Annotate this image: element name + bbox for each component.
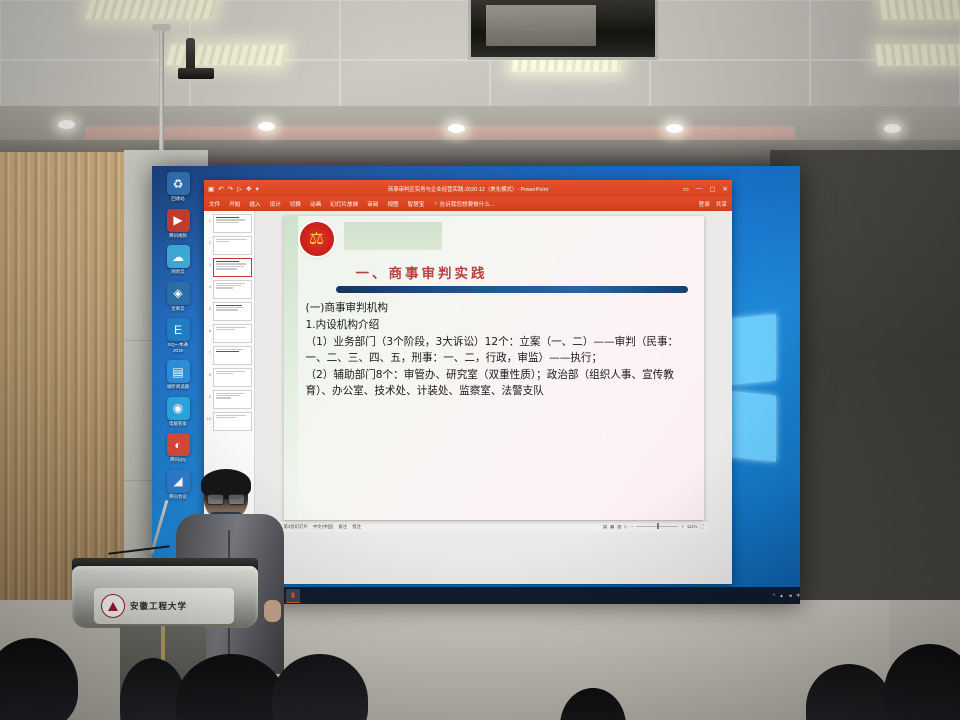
tab-insert[interactable]: 插入 bbox=[249, 200, 260, 208]
desktop-icon-label: 网易云 bbox=[156, 269, 200, 275]
slide-body-line: （1）业务部门（3个阶段，3大诉讼）12个：立案（一、二）——审判（民事：一、二… bbox=[306, 334, 694, 366]
system-tray[interactable]: ^ ▲ ◄ 中 bbox=[773, 593, 800, 599]
slide-thumbnail[interactable]: 5 bbox=[206, 302, 252, 321]
zoom-out-icon[interactable]: − bbox=[631, 524, 634, 529]
slide-number: 6 bbox=[206, 324, 211, 333]
tab-design[interactable]: 设计 bbox=[270, 200, 281, 208]
ceiling-light bbox=[165, 44, 288, 66]
desktop-icon[interactable]: E EQ一本通 2019 bbox=[156, 318, 200, 353]
slide-number: 8 bbox=[206, 368, 211, 377]
zoom-level: 111% bbox=[687, 524, 698, 529]
desktop-icon[interactable]: ☁ 网易云 bbox=[156, 245, 200, 275]
slide-body: (一)商事审判机构 1.内设机构介绍 （1）业务部门（3个阶段，3大诉讼）12个… bbox=[306, 300, 694, 400]
desktop-icon-label: 腾讯视频 bbox=[156, 233, 200, 239]
slide-thumbnail[interactable]: 6 bbox=[206, 324, 252, 343]
volume-icon[interactable]: ◄ bbox=[788, 593, 793, 598]
desktop-icon[interactable]: ▶ 腾讯视频 bbox=[156, 209, 200, 239]
ceiling-light bbox=[878, 0, 960, 20]
qq-icon: ◐ bbox=[167, 433, 190, 456]
slide-left-accent bbox=[284, 216, 298, 520]
redo-icon[interactable]: ↷ bbox=[228, 185, 233, 193]
minimize-icon[interactable]: — bbox=[696, 185, 703, 193]
projector-body bbox=[178, 68, 214, 79]
eq-app-icon: E bbox=[167, 318, 190, 341]
language-indicator[interactable]: 中文(中国) bbox=[313, 524, 334, 530]
slide-number: 3 bbox=[206, 258, 211, 267]
touch-icon[interactable]: ✥ bbox=[246, 185, 251, 193]
desktop-icon[interactable]: ◐ 腾讯QQ bbox=[156, 433, 200, 463]
slide-thumbnail[interactable]: 1 bbox=[206, 214, 252, 233]
pdf-reader-icon: ▤ bbox=[167, 360, 190, 383]
speaker-hand bbox=[264, 600, 281, 622]
slide-thumbnail-selected[interactable]: 3 bbox=[206, 258, 252, 277]
tab-animations[interactable]: 动画 bbox=[310, 200, 321, 208]
ceiling bbox=[0, 0, 960, 118]
slide-header-band bbox=[344, 222, 442, 250]
tell-me-box[interactable]: ♀ 告诉我您想要做什么... bbox=[433, 200, 494, 208]
desktop-icon-label: 福昕阅读器 bbox=[156, 384, 200, 390]
normal-view-icon[interactable]: ▤ bbox=[603, 524, 607, 530]
ceiling-light bbox=[875, 44, 960, 66]
university-logo-icon bbox=[101, 594, 125, 618]
restore-icon[interactable]: ▢ bbox=[709, 185, 715, 193]
slide-title-rule bbox=[336, 286, 688, 293]
status-bar[interactable]: 第3张幻灯片 中文(中国) 备注 批注 ▤ ▦ ▥ ▷ − + 111% bbox=[280, 520, 708, 532]
zoom-slider[interactable] bbox=[636, 526, 678, 528]
window-title: 商事审判区实务与企业经营实践-2020-12（美化模式）- PowerPoint bbox=[204, 185, 732, 193]
desktop-icon-label: 坚果云 bbox=[156, 306, 200, 312]
zoom-in-icon[interactable]: + bbox=[681, 524, 684, 529]
cloud-music-icon: ☁ bbox=[167, 245, 190, 268]
slideshow-icon[interactable]: ▷ bbox=[624, 524, 627, 530]
ceiling-vent bbox=[468, 0, 658, 60]
downlight bbox=[58, 120, 75, 129]
slide-title: 一、商事审判实践 bbox=[356, 262, 488, 282]
tab-home[interactable]: 开始 bbox=[229, 200, 240, 208]
downlight bbox=[258, 122, 275, 131]
current-slide[interactable]: ⚖ 一、商事审判实践 (一)商事审判机构 1.内设机构介绍 （1）业务部门（3个… bbox=[284, 216, 704, 520]
slide-number: 1 bbox=[206, 214, 211, 223]
ribbon-tabs[interactable]: 文件 开始 插入 设计 切换 动画 幻灯片放映 审阅 视图 智慧宝 ♀ 告诉我您… bbox=[204, 197, 732, 211]
reading-view-icon[interactable]: ▥ bbox=[617, 524, 621, 530]
security-manager-icon: ◉ bbox=[167, 397, 190, 420]
desktop-icon-label: 电脑管家 bbox=[156, 421, 200, 427]
powerpoint-icon[interactable]: ▮ bbox=[286, 589, 300, 603]
save-icon[interactable]: ▣ bbox=[208, 185, 214, 193]
lectern-body: 安徽工程大学 bbox=[72, 566, 258, 628]
slide-thumbnail[interactable]: 10 bbox=[206, 412, 252, 431]
downlight bbox=[666, 124, 683, 133]
tab-slideshow[interactable]: 幻灯片放映 bbox=[330, 200, 358, 208]
eyeglasses-icon bbox=[207, 494, 245, 503]
downlight bbox=[448, 124, 465, 133]
slide-body-line: （2）辅助部门8个：审管办、研究室（双重性质）；政治部（组织人事、宣传教育）、办… bbox=[306, 367, 694, 399]
university-name: 安徽工程大学 bbox=[130, 600, 187, 612]
desktop-icon[interactable]: ◉ 电脑管家 bbox=[156, 397, 200, 427]
slide-thumbnail[interactable]: 8 bbox=[206, 368, 252, 387]
notes-button[interactable]: 备注 bbox=[338, 524, 347, 530]
slide-indicator: 第3张幻灯片 bbox=[284, 524, 308, 530]
ribbon-right-actions[interactable]: 登录 共享 bbox=[699, 200, 727, 208]
fit-to-window-icon[interactable]: ⛶ bbox=[700, 524, 703, 529]
desktop-icon[interactable]: ▤ 福昕阅读器 bbox=[156, 360, 200, 390]
tell-me-placeholder: 告诉我您想要做什么... bbox=[440, 200, 495, 208]
court-emblem-icon: ⚖ bbox=[300, 222, 334, 256]
network-icon[interactable]: ▲ bbox=[779, 593, 784, 598]
tray-expand-icon[interactable]: ^ bbox=[773, 593, 775, 598]
comments-button[interactable]: 批注 bbox=[352, 524, 361, 530]
slide-sorter-icon[interactable]: ▦ bbox=[610, 524, 614, 530]
present-icon[interactable]: ▷ bbox=[237, 185, 242, 193]
slide-number: 5 bbox=[206, 302, 211, 311]
ime-indicator[interactable]: 中 bbox=[796, 593, 800, 599]
slide-number: 10 bbox=[206, 412, 211, 421]
tab-transitions[interactable]: 切换 bbox=[290, 200, 301, 208]
customize-icon[interactable]: ▾ bbox=[256, 185, 259, 193]
desktop-icon-label: 腾讯QQ bbox=[156, 457, 200, 463]
window-controls[interactable]: ▭ — ▢ ✕ bbox=[683, 185, 728, 193]
slide-thumbnail[interactable]: 7 bbox=[206, 346, 252, 365]
tab-review[interactable]: 审阅 bbox=[367, 200, 378, 208]
quick-access-toolbar[interactable]: ▣ ↶ ↷ ▷ ✥ ▾ bbox=[208, 185, 259, 193]
desktop-icon[interactable]: ◈ 坚果云 bbox=[156, 282, 200, 312]
video-app-icon: ▶ bbox=[167, 209, 190, 232]
slide-number: 2 bbox=[206, 236, 211, 245]
cloud-drive-icon: ◈ bbox=[167, 282, 190, 305]
title-bar: ▣ ↶ ↷ ▷ ✥ ▾ 商事审判区实务与企业经营实践-2020-12（美化模式）… bbox=[204, 180, 732, 197]
slide-number: 7 bbox=[206, 346, 211, 355]
tab-smart[interactable]: 智慧宝 bbox=[408, 200, 425, 208]
lectern-nameplate: 安徽工程大学 bbox=[94, 588, 234, 624]
lecture-hall-photo: ♻ 回收站 ▶ 腾讯视频 ☁ 网易云 ◈ 坚果云 E EQ一本通 2019 ▤ … bbox=[0, 0, 960, 720]
desktop-icons: ♻ 回收站 ▶ 腾讯视频 ☁ 网易云 ◈ 坚果云 E EQ一本通 2019 ▤ … bbox=[156, 172, 200, 506]
undo-icon[interactable]: ↶ bbox=[218, 185, 223, 193]
downlight bbox=[884, 124, 901, 133]
close-icon[interactable]: ✕ bbox=[723, 185, 728, 193]
ceiling-light bbox=[84, 0, 219, 20]
lightbulb-icon: ♀ bbox=[433, 201, 437, 207]
recycle-bin-icon: ♻ bbox=[167, 172, 190, 195]
share-button[interactable]: 共享 bbox=[716, 200, 727, 208]
desktop-icon-label: EQ一本通 2019 bbox=[156, 342, 200, 353]
slide-thumbnail[interactable]: 9 bbox=[206, 390, 252, 409]
slide-thumbnail[interactable]: 2 bbox=[206, 236, 252, 255]
slide-editing-area[interactable]: ⚖ 一、商事审判实践 (一)商事审判机构 1.内设机构介绍 （1）业务部门（3个… bbox=[255, 211, 732, 584]
sign-in-label[interactable]: 登录 bbox=[699, 200, 710, 208]
slide-thumbnail[interactable]: 4 bbox=[206, 280, 252, 299]
slide-body-line: 1.内设机构介绍 bbox=[306, 317, 694, 333]
slide-number: 9 bbox=[206, 390, 211, 399]
ribbon-options-icon[interactable]: ▭ bbox=[683, 185, 689, 193]
tab-view[interactable]: 视图 bbox=[387, 200, 398, 208]
desktop-icon-label: 回收站 bbox=[156, 196, 200, 202]
slide-body-line: (一)商事审判机构 bbox=[306, 300, 694, 316]
desktop-icon[interactable]: ♻ 回收站 bbox=[156, 172, 200, 202]
tab-file[interactable]: 文件 bbox=[209, 200, 220, 208]
slide-number: 4 bbox=[206, 280, 211, 289]
